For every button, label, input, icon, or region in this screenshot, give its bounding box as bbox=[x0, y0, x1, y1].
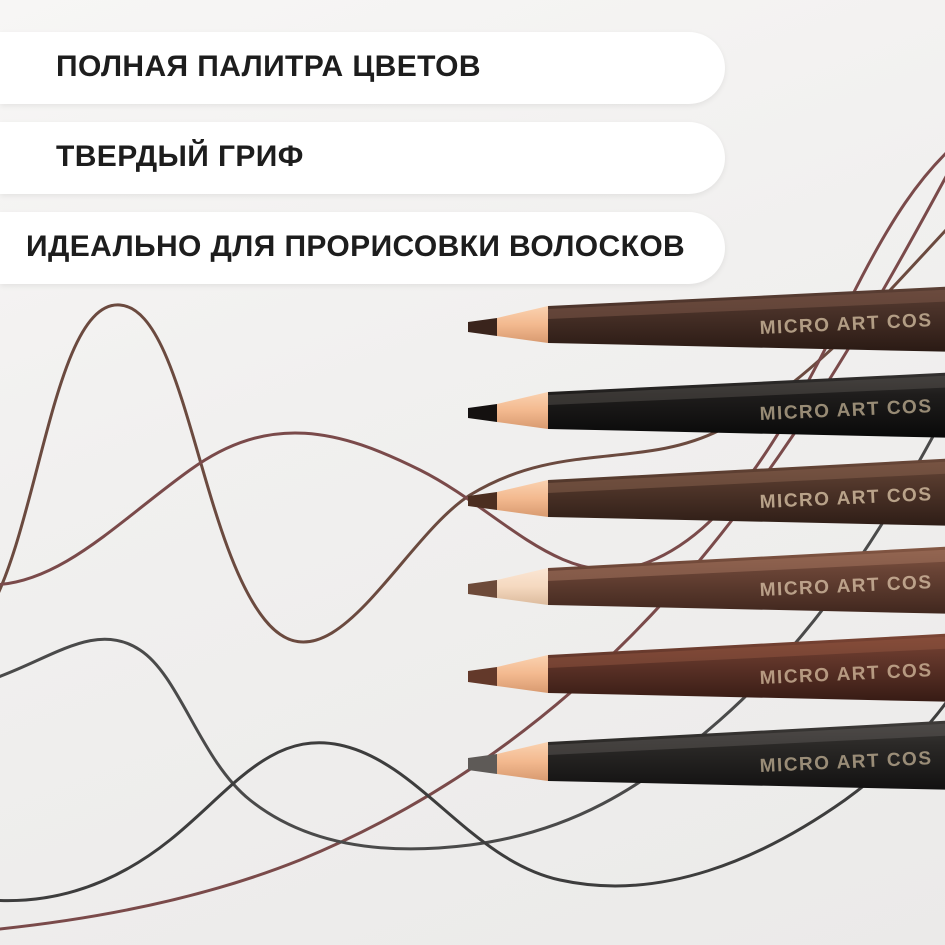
promo-image: MICRO ART COS MICRO ART COS MICRO ART CO… bbox=[0, 0, 945, 945]
badge-palette-label: ПОЛНАЯ ПАЛИТРА ЦВЕТОВ bbox=[56, 50, 481, 84]
pencil-2-lead bbox=[468, 404, 497, 422]
pencil-5-wood-cone bbox=[497, 655, 548, 693]
pencil-5: MICRO ART COS bbox=[468, 633, 945, 702]
badge-hairs: ИДЕАЛЬНО ДЛЯ ПРОРИСОВКИ ВОЛОСКОВ bbox=[0, 212, 725, 284]
pencil-2-wood-cone bbox=[497, 392, 548, 429]
pencil-4: MICRO ART COS bbox=[468, 546, 945, 614]
pencil-6: MICRO ART COS bbox=[468, 720, 945, 790]
feature-badge-list: ПОЛНАЯ ПАЛИТРА ЦВЕТОВ ТВЕРДЫЙ ГРИФ ИДЕАЛ… bbox=[0, 32, 725, 284]
pencil-1: MICRO ART COS bbox=[468, 286, 945, 352]
pencil-1-lead bbox=[468, 318, 497, 336]
pencil-6-lead bbox=[468, 754, 497, 774]
pencil-3-wood-cone bbox=[497, 480, 548, 517]
pencil-4-wood-cone bbox=[497, 568, 548, 605]
pencil-6-wood-cone bbox=[497, 742, 548, 781]
pencil-2: MICRO ART COS bbox=[468, 372, 945, 438]
pencil-4-lead bbox=[468, 580, 497, 598]
pencil-5-lead bbox=[468, 667, 497, 686]
pencil-3: MICRO ART COS bbox=[468, 458, 945, 526]
badge-hairs-label: ИДЕАЛЬНО ДЛЯ ПРОРИСОВКИ ВОЛОСКОВ bbox=[26, 230, 685, 264]
pencil-3-lead bbox=[468, 492, 497, 510]
badge-hardness: ТВЕРДЫЙ ГРИФ bbox=[0, 122, 725, 194]
pencil-1-wood-cone bbox=[497, 306, 548, 343]
badge-hardness-label: ТВЕРДЫЙ ГРИФ bbox=[56, 140, 304, 174]
badge-palette: ПОЛНАЯ ПАЛИТРА ЦВЕТОВ bbox=[0, 32, 725, 104]
